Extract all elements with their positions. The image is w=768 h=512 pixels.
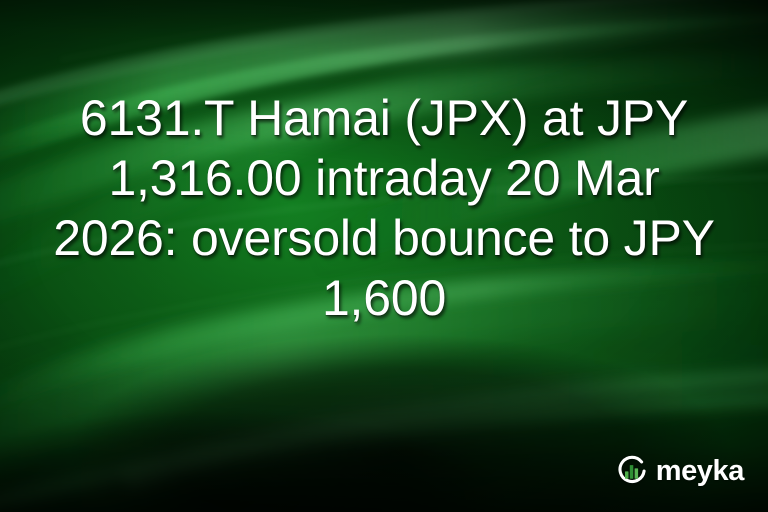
meyka-circle-bars-logo-icon xyxy=(615,454,649,488)
headline-container: 6131.T Hamai (JPX) at JPY 1,316.00 intra… xyxy=(0,88,768,328)
social-share-card: 6131.T Hamai (JPX) at JPY 1,316.00 intra… xyxy=(0,0,768,512)
headline-text: 6131.T Hamai (JPX) at JPY 1,316.00 intra… xyxy=(26,88,742,328)
meyka-logo[interactable]: meyka xyxy=(615,454,744,488)
meyka-wordmark: meyka xyxy=(656,457,744,486)
